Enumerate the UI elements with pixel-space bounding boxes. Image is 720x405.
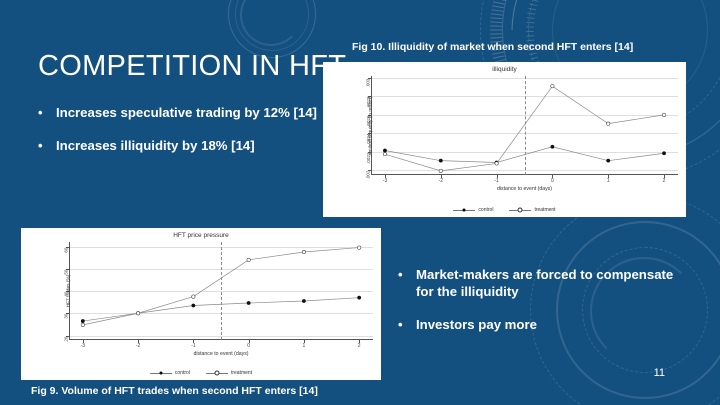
bullet-dot-icon: • [38,138,56,155]
legend-label: control [175,370,190,376]
data-point-control [302,299,306,303]
bullet-text: Increases illiquidity by 18% [14] [56,138,318,155]
list-item: • Market-makers are forced to compensate… [398,267,688,301]
figure-caption-fig9: Fig 9. Volume of HFT trades when second … [31,385,318,397]
x-axis-label: distance to event (days) [69,351,373,357]
data-point-control [662,151,666,155]
x-tick-label: 1 [303,343,306,349]
series-layer [69,242,373,340]
chart-legend-hft-price-pressure: control treatment [21,370,381,376]
data-point-treatment [192,295,195,298]
x-tick-label: -2 [439,178,443,184]
page-number: 11 [654,367,665,379]
x-tick-label: -3 [81,343,85,349]
series-layer [371,76,678,175]
bullet-text: Increases speculative trading by 12% [14… [56,105,318,122]
series-line-treatment [83,248,359,325]
bullet-dot-icon: • [38,105,56,122]
data-point-control [439,159,443,163]
chart-title-hft-price-pressure: HFT price pressure [21,232,381,239]
data-point-control [551,145,555,149]
list-item: • Increases illiquidity by 18% [14] [38,138,318,155]
data-point-treatment [81,323,84,326]
plot-area-hft-price-pressure: 2030405060-3-2-1012distance to event (da… [69,242,373,340]
x-axis-label: distance to event (days) [371,186,678,192]
figure-caption-fig10: Fig 10. Illiquidity of market when secon… [352,41,633,53]
bullet-list-right: • Market-makers are forced to compensate… [398,267,688,350]
legend-item-control: control [150,370,190,376]
data-point-control [383,149,387,153]
x-tick-label: 1 [607,178,610,184]
chart-panel-hft-price-pressure: HFT price pressure 2030405060-3-2-1012di… [21,228,381,380]
data-point-control [81,319,85,323]
legend-marker-filled-icon [453,210,475,211]
slide-root: COMPETITION IN HFT • Increases speculati… [0,0,720,405]
chart-legend-illiquidity: control treatment [323,207,686,213]
data-point-treatment [302,250,305,253]
plot-area-illiquidity: .002.0022.0024.0026.0028.003-3-2-1012dis… [371,76,678,175]
bullet-dot-icon: • [398,267,416,284]
series-line-control [83,298,359,321]
legend-item-treatment: treatment [509,207,555,213]
legend-marker-open-icon [509,210,531,211]
data-point-treatment [607,122,610,125]
data-point-treatment [357,246,360,249]
x-tick-label: 0 [551,178,554,184]
data-point-treatment [247,258,250,261]
data-point-control [606,159,610,163]
legend-marker-filled-icon [150,373,172,374]
x-tick-label: -1 [494,178,498,184]
x-tick-label: -2 [136,343,140,349]
bullet-text: Market-makers are forced to compensate f… [416,267,688,301]
data-point-treatment [495,162,498,165]
legend-marker-open-icon [206,373,228,374]
x-tick-label: 2 [358,343,361,349]
bullet-dot-icon: • [398,317,416,334]
data-point-treatment [439,169,442,172]
data-point-control [357,296,361,300]
data-point-control [247,301,251,305]
bullet-text: Investors pay more [416,317,688,334]
x-tick-label: 2 [663,178,666,184]
series-line-control [385,147,664,163]
x-tick-label: 0 [247,343,250,349]
list-item: • Investors pay more [398,317,688,334]
legend-label: treatment [231,370,252,376]
legend-item-control: control [453,207,493,213]
chart-panel-illiquidity: illiquidity .002.0022.0024.0026.0028.003… [323,62,686,217]
x-tick-label: -1 [191,343,195,349]
data-point-treatment [383,152,386,155]
data-point-treatment [136,312,139,315]
bullet-list-left: • Increases speculative trading by 12% [… [38,105,318,171]
chart-title-illiquidity: illiquidity [323,66,686,73]
page-title: COMPETITION IN HFT [38,50,346,83]
data-point-control [191,304,195,308]
legend-label: control [478,207,493,213]
data-point-treatment [551,84,554,87]
x-tick-label: -3 [383,178,387,184]
legend-label: treatment [534,207,555,213]
data-point-treatment [662,113,665,116]
list-item: • Increases speculative trading by 12% [… [38,105,318,122]
legend-item-treatment: treatment [206,370,252,376]
